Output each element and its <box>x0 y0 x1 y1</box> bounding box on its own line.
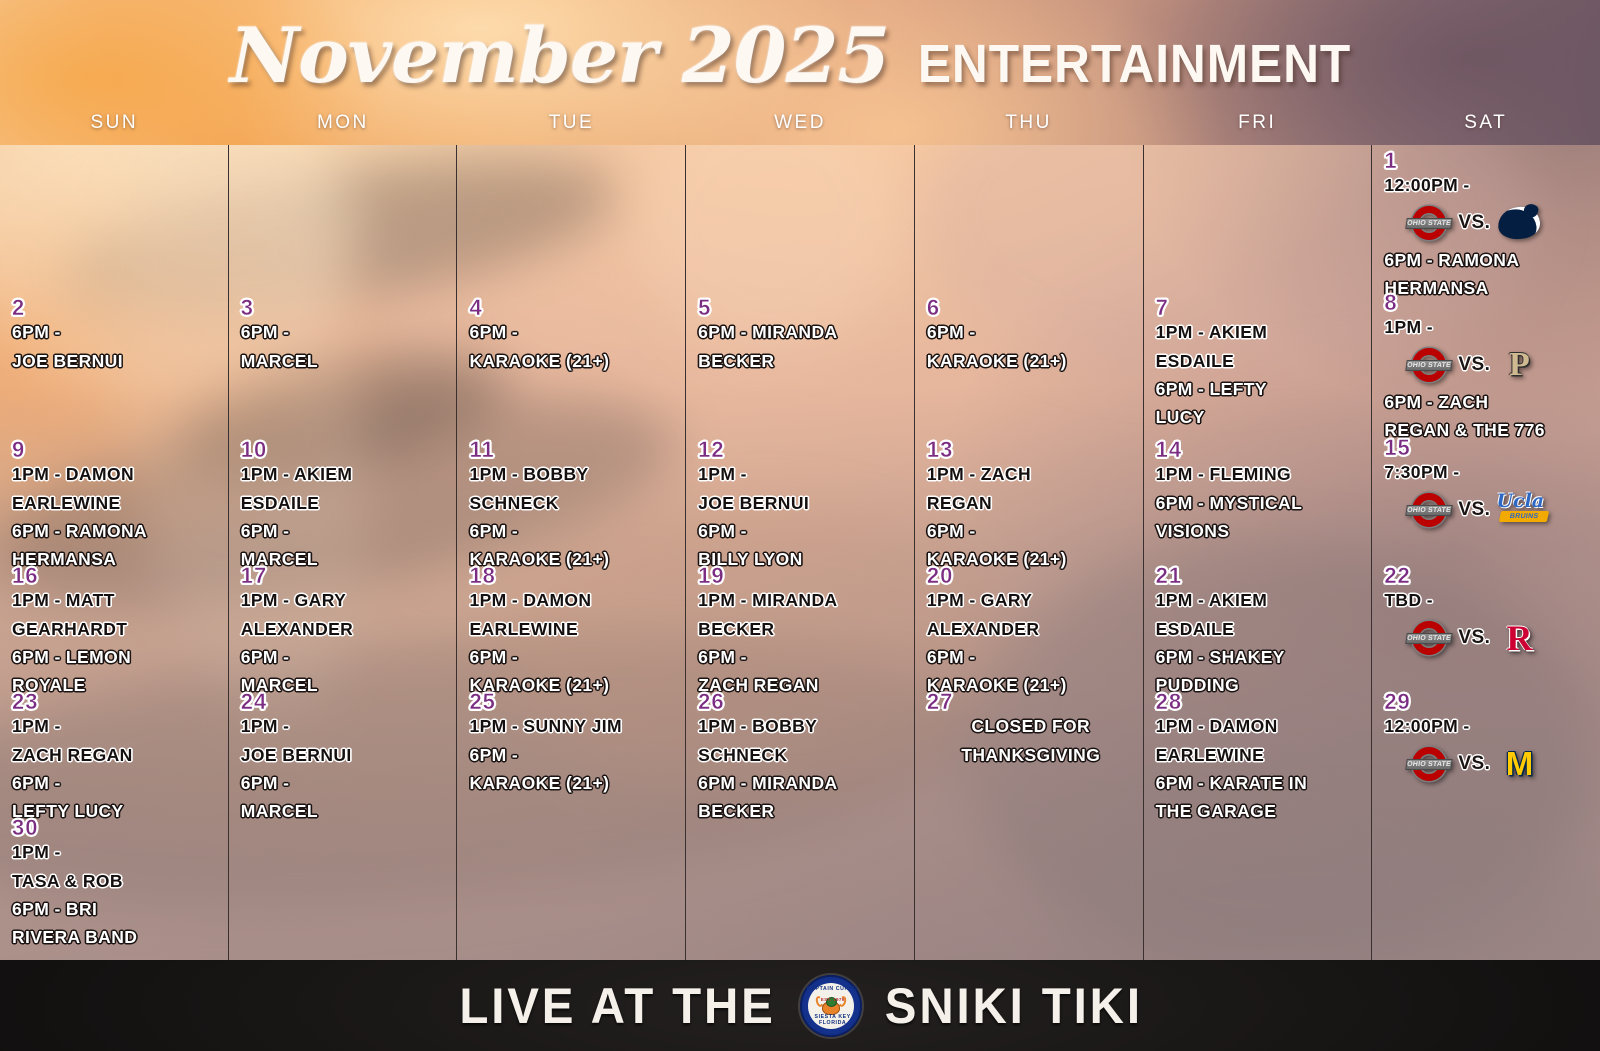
calendar-column-sat: 112:00PM -OHIO STATEVS.6PM - RAMONAHERMA… <box>1371 145 1600 960</box>
day-cell: 81PM -OHIO STATEVS.P6PM - ZACHREGAN & TH… <box>1384 290 1592 447</box>
event-text: BECKER <box>698 618 906 641</box>
event-text: 1PM - DAMON <box>12 463 220 486</box>
vs-label: VS. <box>1458 212 1490 234</box>
event-text: 1PM - AKIEM <box>1156 589 1364 612</box>
event-text: 6PM - <box>698 520 906 543</box>
event-text: ZACH REGAN <box>12 744 220 767</box>
day-number: 6 <box>927 295 1135 320</box>
calendar-column-tue: 46PM -KARAOKE (21+)111PM - BOBBYSCHNECK6… <box>456 145 685 960</box>
osu-logo-icon: OHIO STATE <box>1406 345 1452 385</box>
title-entertainment: ENTERTAINMENT <box>918 37 1351 91</box>
day-cell: 261PM - BOBBYSCHNECK6PM - MIRANDABECKER <box>698 689 906 828</box>
logo-est-text: EST. 1979 <box>802 997 864 1002</box>
day-number: 5 <box>698 295 906 320</box>
event-text: 1PM - FLEMING <box>1156 463 1364 486</box>
ucla-logo-icon: UclaBRUINS <box>1496 490 1550 530</box>
logo-top-text: CAPTAIN CURT'S <box>802 986 864 992</box>
day-number: 23 <box>12 689 220 714</box>
event-text: MARCEL <box>241 800 449 823</box>
event-text: 6PM - <box>927 520 1135 543</box>
weekday-fri: FRI <box>1143 112 1372 144</box>
day-cell: 91PM - DAMONEARLEWINE6PM - RAMONAHERMANS… <box>12 437 220 576</box>
day-cell: 27CLOSED FORTHANKSGIVING <box>927 689 1135 772</box>
event-text: 6PM - MIRANDA <box>698 772 906 795</box>
event-text: BECKER <box>698 350 906 373</box>
weekday-wed: WED <box>686 112 915 144</box>
event-text: ALEXANDER <box>241 618 449 641</box>
day-number: 1 <box>1384 148 1592 173</box>
psu-logo-icon <box>1496 203 1542 243</box>
calendar-grid: 26PM -JOE BERNUI91PM - DAMONEARLEWINE6PM… <box>0 145 1600 960</box>
event-text: 6PM - MYSTICAL <box>1156 492 1364 515</box>
day-number: 27 <box>927 689 1135 714</box>
event-text: 1PM - GARY <box>241 589 449 612</box>
day-number: 15 <box>1384 435 1592 460</box>
calendar-column-fri: 71PM - AKIEMESDAILE6PM - LEFTYLUCY141PM … <box>1143 145 1372 960</box>
event-text: BECKER <box>698 800 906 823</box>
day-number: 11 <box>469 437 677 462</box>
event-text: 6PM - <box>12 772 220 795</box>
day-cell: 171PM - GARYALEXANDER6PM -MARCEL <box>241 563 449 702</box>
vs-label: VS. <box>1458 753 1490 775</box>
day-cell: 181PM - DAMONEARLEWINE6PM -KARAOKE (21+) <box>469 563 677 702</box>
day-cell: 201PM - GARYALEXANDER6PM -KARAOKE (21+) <box>927 563 1135 702</box>
event-text: 6PM - LEFTY <box>1156 378 1364 401</box>
day-cell: 26PM -JOE BERNUI <box>12 295 220 378</box>
day-cell: 112:00PM -OHIO STATEVS.6PM - RAMONAHERMA… <box>1384 148 1592 305</box>
day-cell: 2912:00PM -OHIO STATEVS.M <box>1384 689 1592 790</box>
event-text: SCHNECK <box>698 744 906 767</box>
matchup-row: OHIO STATEVS. <box>1384 203 1592 243</box>
event-text: 6PM - RAMONA <box>12 520 220 543</box>
event-text: 6PM - <box>698 646 906 669</box>
event-text: 1PM - DAMON <box>1156 715 1364 738</box>
event-text: CLOSED FOR <box>927 715 1135 738</box>
osu-logo-icon: OHIO STATE <box>1406 618 1452 658</box>
event-text: 6PM - <box>241 772 449 795</box>
weekday-sat: SAT <box>1371 112 1600 144</box>
logo-bottom-text: SIESTA KEY FLORIDA <box>802 1014 864 1026</box>
day-cell: 111PM - BOBBYSCHNECK6PM -KARAOKE (21+) <box>469 437 677 576</box>
weekday-thu: THU <box>914 112 1143 144</box>
weekday-header-row: SUN MON TUE WED THU FRI SAT <box>0 112 1600 144</box>
event-text: TASA & ROB <box>12 870 220 893</box>
event-text: 6PM - BRI <box>12 898 220 921</box>
pur-logo-icon: P <box>1496 345 1542 385</box>
matchup-row: OHIO STATEVS.R <box>1384 618 1592 658</box>
event-text: JOE BERNUI <box>698 492 906 515</box>
event-text: 1PM - BOBBY <box>469 463 677 486</box>
day-cell: 157:30PM -OHIO STATEVS.UclaBRUINS <box>1384 435 1592 536</box>
event-text: 1PM - MATT <box>12 589 220 612</box>
osu-logo-icon: OHIO STATE <box>1406 744 1452 784</box>
event-text: 1PM - <box>12 841 220 864</box>
event-text: KARAOKE (21+) <box>927 350 1135 373</box>
event-text: 6PM - <box>241 520 449 543</box>
event-text: 1PM - <box>12 715 220 738</box>
day-number: 19 <box>698 563 906 588</box>
day-number: 12 <box>698 437 906 462</box>
event-text: 6PM - LEMON <box>12 646 220 669</box>
matchup-row: OHIO STATEVS.UclaBRUINS <box>1384 490 1592 530</box>
day-cell: 36PM -MARCEL <box>241 295 449 378</box>
day-cell: 141PM - FLEMING6PM - MYSTICALVISIONS <box>1156 437 1364 548</box>
game-time: 7:30PM - <box>1384 461 1592 484</box>
event-text: 1PM - DAMON <box>469 589 677 612</box>
day-cell: 66PM -KARAOKE (21+) <box>927 295 1135 378</box>
day-cell: 46PM -KARAOKE (21+) <box>469 295 677 378</box>
day-cell: 71PM - AKIEMESDAILE6PM - LEFTYLUCY <box>1156 295 1364 434</box>
game-time: 12:00PM - <box>1384 715 1592 738</box>
day-cell: 121PM -JOE BERNUI6PM -BILLY LYON <box>698 437 906 576</box>
event-text: GEARHARDT <box>12 618 220 641</box>
game-time: 1PM - <box>1384 316 1592 339</box>
event-text: 6PM - KARATE IN <box>1156 772 1364 795</box>
day-number: 26 <box>698 689 906 714</box>
event-text: VISIONS <box>1156 520 1364 543</box>
event-text: 1PM - AKIEM <box>241 463 449 486</box>
event-text: MARCEL <box>241 350 449 373</box>
event-text: EARLEWINE <box>12 492 220 515</box>
day-cell: 101PM - AKIEMESDAILE6PM -MARCEL <box>241 437 449 576</box>
day-number: 20 <box>927 563 1135 588</box>
event-text: ESDAILE <box>1156 350 1364 373</box>
vs-label: VS. <box>1458 499 1490 521</box>
event-text: 1PM - MIRANDA <box>698 589 906 612</box>
game-time: 12:00PM - <box>1384 174 1592 197</box>
day-number: 2 <box>12 295 220 320</box>
event-text: 6PM - <box>469 321 677 344</box>
event-text: 6PM - <box>469 520 677 543</box>
day-number: 7 <box>1156 295 1364 320</box>
day-cell: 211PM - AKIEMESDAILE6PM - SHAKEYPUDDING <box>1156 563 1364 702</box>
day-cell: 22TBD -OHIO STATEVS.R <box>1384 563 1592 664</box>
day-number: 8 <box>1384 290 1592 315</box>
vs-label: VS. <box>1458 627 1490 649</box>
day-cell: 231PM -ZACH REGAN6PM -LEFTY LUCY <box>12 689 220 828</box>
page-title: November 2025ENTERTAINMENT <box>0 18 1600 94</box>
footer-text-right: SNIKI TIKI <box>884 977 1142 1035</box>
weekday-tue: TUE <box>457 112 686 144</box>
vs-label: VS. <box>1458 354 1490 376</box>
event-text: 1PM - <box>241 715 449 738</box>
event-text: EARLEWINE <box>1156 744 1364 767</box>
day-number: 18 <box>469 563 677 588</box>
event-text: REGAN <box>927 492 1135 515</box>
day-cell: 161PM - MATTGEARHARDT6PM - LEMONROYALE <box>12 563 220 702</box>
calendar-column-thu: 66PM -KARAOKE (21+)131PM - ZACHREGAN6PM … <box>914 145 1143 960</box>
event-text: 6PM - <box>241 646 449 669</box>
event-text: 1PM - GARY <box>927 589 1135 612</box>
event-text: ESDAILE <box>241 492 449 515</box>
day-number: 3 <box>241 295 449 320</box>
day-cell: 241PM -JOE BERNUI6PM -MARCEL <box>241 689 449 828</box>
event-text: 6PM - <box>927 646 1135 669</box>
event-text: 1PM - BOBBY <box>698 715 906 738</box>
calendar-header: November 2025ENTERTAINMENT SUN MON TUE W… <box>0 0 1600 145</box>
osu-logo-icon: OHIO STATE <box>1406 490 1452 530</box>
day-cell: 281PM - DAMONEARLEWINE6PM - KARATE INTHE… <box>1156 689 1364 828</box>
event-text: JOE BERNUI <box>12 350 220 373</box>
event-text: LUCY <box>1156 406 1364 429</box>
event-text: THE GARAGE <box>1156 800 1364 823</box>
calendar-column-wed: 56PM - MIRANDABECKER121PM -JOE BERNUI6PM… <box>685 145 914 960</box>
day-cell: 56PM - MIRANDABECKER <box>698 295 906 378</box>
captain-curts-logo-icon: CAPTAIN CURT'S EST. 1979 SIESTA KEY FLOR… <box>800 975 862 1037</box>
event-text: KARAOKE (21+) <box>469 772 677 795</box>
day-number: 14 <box>1156 437 1364 462</box>
event-text: 6PM - RAMONA <box>1384 249 1592 272</box>
event-text: 6PM - SHAKEY <box>1156 646 1364 669</box>
event-text: 6PM - ZACH <box>1384 391 1592 414</box>
calendar-column-sun: 26PM -JOE BERNUI91PM - DAMONEARLEWINE6PM… <box>0 145 228 960</box>
event-text: ALEXANDER <box>927 618 1135 641</box>
day-number: 30 <box>12 815 220 840</box>
footer-text-left: LIVE AT THE <box>459 977 775 1035</box>
event-text: 1PM - SUNNY JIM <box>469 715 677 738</box>
matchup-row: OHIO STATEVS.P <box>1384 345 1592 385</box>
day-number: 13 <box>927 437 1135 462</box>
event-text: SCHNECK <box>469 492 677 515</box>
rut-logo-icon: R <box>1496 618 1542 658</box>
day-cell: 131PM - ZACHREGAN6PM -KARAOKE (21+) <box>927 437 1135 576</box>
mich-logo-icon: M <box>1496 744 1542 784</box>
calendar-column-mon: 36PM -MARCEL101PM - AKIEMESDAILE6PM -MAR… <box>228 145 457 960</box>
osu-logo-icon: OHIO STATE <box>1406 203 1452 243</box>
event-text: ESDAILE <box>1156 618 1364 641</box>
event-text: RIVERA BAND <box>12 926 220 949</box>
footer-banner: LIVE AT THE CAPTAIN CURT'S EST. 1979 SIE… <box>0 960 1600 1051</box>
event-text: 1PM - <box>698 463 906 486</box>
day-number: 17 <box>241 563 449 588</box>
game-time: TBD - <box>1384 589 1592 612</box>
day-number: 16 <box>12 563 220 588</box>
day-cell: 191PM - MIRANDABECKER6PM -ZACH REGAN <box>698 563 906 702</box>
event-text: 1PM - ZACH <box>927 463 1135 486</box>
event-text: 6PM - <box>12 321 220 344</box>
day-number: 29 <box>1384 689 1592 714</box>
event-text: 6PM - MIRANDA <box>698 321 906 344</box>
event-text: KARAOKE (21+) <box>469 350 677 373</box>
day-number: 25 <box>469 689 677 714</box>
day-number: 24 <box>241 689 449 714</box>
event-text: 6PM - <box>927 321 1135 344</box>
event-text: 6PM - <box>469 646 677 669</box>
event-text: EARLEWINE <box>469 618 677 641</box>
event-text: 6PM - <box>469 744 677 767</box>
day-cell: 251PM - SUNNY JIM6PM -KARAOKE (21+) <box>469 689 677 800</box>
day-number: 28 <box>1156 689 1364 714</box>
event-text: JOE BERNUI <box>241 744 449 767</box>
day-number: 10 <box>241 437 449 462</box>
weekday-mon: MON <box>229 112 458 144</box>
day-number: 22 <box>1384 563 1592 588</box>
day-cell: 301PM -TASA & ROB6PM - BRIRIVERA BAND <box>12 815 220 954</box>
event-text: 1PM - AKIEM <box>1156 321 1364 344</box>
event-text: THANKSGIVING <box>927 744 1135 767</box>
title-month-year: November 2025 <box>230 11 890 100</box>
weekday-sun: SUN <box>0 112 229 144</box>
matchup-row: OHIO STATEVS.M <box>1384 744 1592 784</box>
event-text: 6PM - <box>241 321 449 344</box>
day-number: 21 <box>1156 563 1364 588</box>
day-number: 4 <box>469 295 677 320</box>
day-number: 9 <box>12 437 220 462</box>
